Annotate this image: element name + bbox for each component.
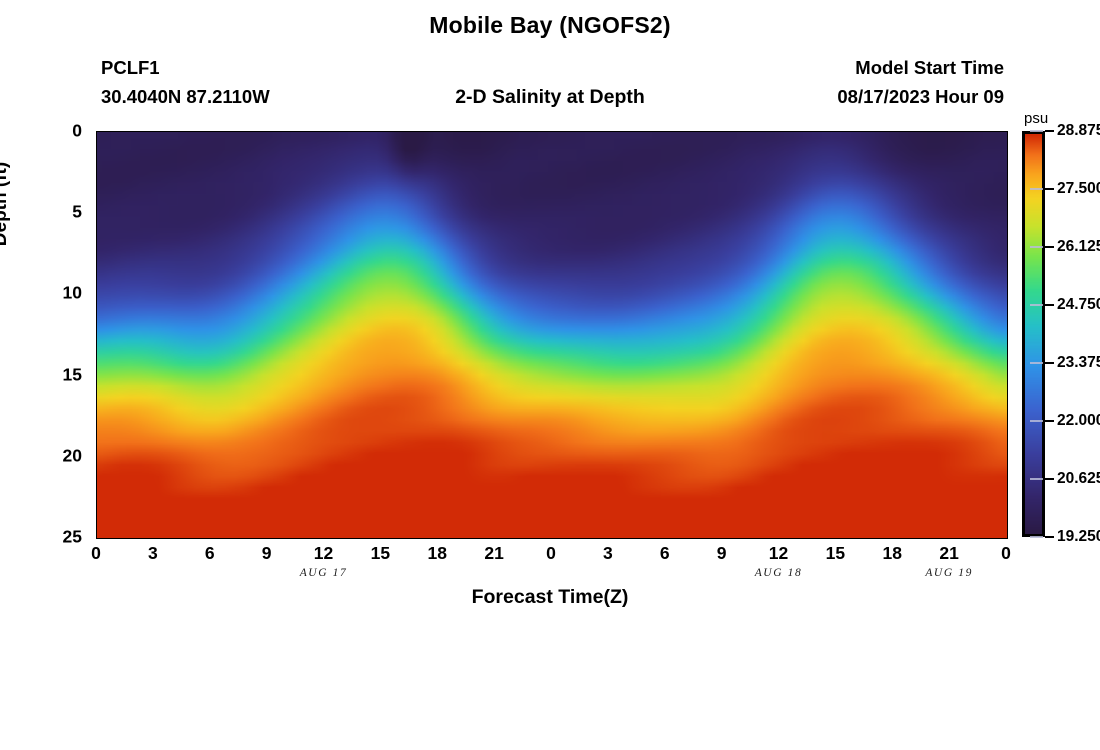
y-axis-tick: [96, 488, 97, 490]
x-axis-tick: [968, 538, 970, 539]
x-axis-tick: [115, 538, 117, 539]
y-axis-tick: [96, 391, 97, 393]
colorbar-tick: [1045, 362, 1054, 364]
x-axis-tick: [684, 131, 686, 132]
y-axis-tick: [1007, 407, 1008, 409]
x-axis-tick: [760, 538, 762, 539]
y-axis-tick: [96, 505, 97, 507]
x-axis-tick: [835, 131, 837, 132]
y-axis-tick: [96, 407, 97, 409]
x-axis-tick: [816, 538, 818, 539]
x-axis-tick: [741, 538, 743, 539]
x-axis-tick-label: 15: [826, 543, 845, 564]
x-axis-tick: [627, 538, 629, 539]
x-axis-tick: [816, 131, 818, 132]
x-axis-tick: [968, 131, 970, 132]
colorbar-tick-inner: [1030, 362, 1043, 364]
y-axis-tick-label: 15: [63, 364, 82, 385]
y-axis-tick: [96, 440, 97, 442]
x-axis-day-label: AUG 18: [755, 567, 803, 579]
x-axis-tick: [191, 131, 193, 132]
colorbar-tick-label: 20.625: [1057, 470, 1100, 488]
x-axis-tick: [380, 131, 382, 132]
x-axis-tick: [248, 538, 250, 539]
y-axis-tick: [1007, 131, 1008, 133]
x-axis-tick: [229, 131, 231, 132]
x-axis-tick: [342, 131, 344, 132]
x-axis-tick: [494, 131, 496, 132]
x-axis-day-label: AUG 19: [925, 567, 973, 579]
x-axis-tick: [873, 131, 875, 132]
x-axis-tick: [361, 131, 363, 132]
x-axis-tick: [684, 538, 686, 539]
y-axis-tick: [96, 358, 97, 360]
colorbar-tick-label: 24.750: [1057, 296, 1100, 314]
y-axis-tick: [1007, 342, 1008, 344]
colorbar-tick-label: 19.250: [1057, 528, 1100, 546]
colorbar-tick: [1045, 478, 1054, 480]
x-axis-tick: [949, 538, 951, 539]
x-axis-tick: [760, 131, 762, 132]
y-axis-tick: [1007, 505, 1008, 507]
x-axis-tick: [741, 131, 743, 132]
x-axis-tick: [665, 538, 667, 539]
y-axis-tick: [1007, 196, 1008, 198]
colorbar-tick: [1045, 304, 1054, 306]
x-axis-tick-label: 21: [939, 543, 958, 564]
x-axis-tick: [456, 538, 458, 539]
heatmap-canvas: [97, 132, 1007, 538]
x-axis-tick: [892, 131, 894, 132]
colorbar-tick-inner: [1030, 478, 1043, 480]
x-axis-tick: [589, 538, 591, 539]
colorbar-tick-inner: [1030, 246, 1043, 248]
x-axis-tick: [115, 131, 117, 132]
chart-page: Mobile Bay (NGOFS2) PCLF1 30.4040N 87.21…: [0, 0, 1100, 750]
x-axis-tick: [854, 131, 856, 132]
y-axis-tick: [1007, 293, 1008, 295]
x-axis-tick: [286, 131, 288, 132]
x-axis-tick: [418, 538, 420, 539]
colorbar-tick-label: 26.125: [1057, 238, 1100, 256]
y-axis-tick: [96, 472, 97, 474]
y-axis-tick: [1007, 228, 1008, 230]
x-axis-tick: [930, 538, 932, 539]
x-axis-tick: [646, 538, 648, 539]
y-axis-tick: [96, 456, 97, 458]
colorbar-tick-inner: [1030, 130, 1043, 132]
x-axis-tick: [1006, 131, 1008, 132]
x-axis-tick: [513, 131, 515, 132]
x-axis-tick: [399, 131, 401, 132]
x-axis-tick: [172, 538, 174, 539]
x-axis-tick: [305, 538, 307, 539]
y-axis-tick: [96, 245, 97, 247]
x-axis-tick: [267, 131, 269, 132]
y-axis-tick: [96, 293, 97, 295]
y-axis-tick: [96, 180, 97, 182]
salinity-heatmap-plot: [96, 131, 1008, 539]
y-axis-tick-label: 20: [63, 445, 82, 466]
y-axis-tick-label: 25: [63, 527, 82, 548]
x-axis-tick: [475, 131, 477, 132]
x-axis-tick: [608, 131, 610, 132]
x-axis-tick: [494, 538, 496, 539]
y-axis-tick: [96, 342, 97, 344]
x-axis-tick: [854, 538, 856, 539]
colorbar-tick-inner: [1030, 420, 1043, 422]
x-axis-tick: [380, 538, 382, 539]
x-axis-tick: [646, 131, 648, 132]
x-axis-tick-label: 21: [484, 543, 503, 564]
x-axis-tick: [797, 131, 799, 132]
y-axis-tick: [1007, 472, 1008, 474]
x-axis-tick: [987, 538, 989, 539]
colorbar-gradient: [1022, 131, 1045, 537]
x-axis-tick: [703, 131, 705, 132]
x-axis-tick: [911, 131, 913, 132]
y-axis-tick: [96, 261, 97, 263]
x-axis-tick-label: 0: [1001, 543, 1011, 564]
y-axis-tick: [1007, 277, 1008, 279]
x-axis-tick-label: 6: [205, 543, 215, 564]
x-axis-tick-label: 9: [262, 543, 272, 564]
model-start-label: Model Start Time: [855, 57, 1004, 79]
colorbar-tick: [1045, 246, 1054, 248]
x-axis-tick: [96, 538, 98, 539]
x-axis-tick: [210, 131, 212, 132]
x-axis-tick-label: 18: [883, 543, 902, 564]
x-axis-tick: [267, 538, 269, 539]
y-axis-tick: [1007, 440, 1008, 442]
x-axis-tick: [248, 131, 250, 132]
colorbar: [1022, 131, 1045, 537]
y-axis-tick: [1007, 310, 1008, 312]
y-axis-tick: [1007, 423, 1008, 425]
x-axis-tick: [153, 131, 155, 132]
x-axis-tick: [361, 538, 363, 539]
x-axis-tick: [949, 131, 951, 132]
colorbar-tick-label: 22.000: [1057, 412, 1100, 430]
x-axis-tick: [437, 538, 439, 539]
x-axis-tick: [153, 538, 155, 539]
colorbar-tick-inner: [1030, 536, 1043, 538]
y-axis-tick: [96, 521, 97, 523]
x-axis-tick: [892, 538, 894, 539]
colorbar-tick: [1045, 420, 1054, 422]
colorbar-tick-inner: [1030, 304, 1043, 306]
heatmap-surface: [97, 132, 1007, 538]
x-axis-tick-label: 15: [371, 543, 390, 564]
x-axis-tick-label: 12: [769, 543, 788, 564]
x-axis-tick: [437, 131, 439, 132]
y-axis-tick: [1007, 456, 1008, 458]
y-axis-tick: [96, 326, 97, 328]
x-axis-tick: [1006, 538, 1008, 539]
y-axis-tick: [1007, 375, 1008, 377]
y-axis-tick-label: 0: [72, 121, 82, 142]
y-axis-tick: [96, 147, 97, 149]
y-axis-tick-label: 10: [63, 283, 82, 304]
y-axis-tick: [96, 163, 97, 165]
x-axis-tick: [324, 131, 326, 132]
colorbar-tick-label: 23.375: [1057, 354, 1100, 372]
x-axis-tick-label: 18: [428, 543, 447, 564]
x-axis-tick: [797, 538, 799, 539]
x-axis-tick: [134, 538, 136, 539]
colorbar-tick: [1045, 188, 1054, 190]
x-axis-tick-label: 3: [603, 543, 613, 564]
x-axis-tick: [96, 131, 98, 132]
x-axis-tick: [229, 538, 231, 539]
y-axis-title: Depth (ft): [0, 74, 12, 334]
station-id: PCLF1: [101, 57, 160, 79]
y-axis-tick-label: 5: [72, 202, 82, 223]
y-axis-tick: [96, 277, 97, 279]
x-axis-tick: [589, 131, 591, 132]
x-axis-tick: [532, 538, 534, 539]
colorbar-tick-label: 28.875: [1057, 122, 1100, 140]
x-axis-tick: [305, 131, 307, 132]
y-axis-tick: [1007, 488, 1008, 490]
x-axis-tick-label: 9: [717, 543, 727, 564]
y-axis-tick: [96, 228, 97, 230]
y-axis-tick: [1007, 326, 1008, 328]
x-axis-tick: [551, 131, 553, 132]
x-axis-tick: [399, 538, 401, 539]
y-axis-tick: [96, 310, 97, 312]
x-axis-tick: [779, 131, 781, 132]
x-axis-tick: [911, 538, 913, 539]
x-axis-tick-label: 0: [91, 543, 101, 564]
y-axis-tick: [1007, 391, 1008, 393]
x-axis-tick: [722, 538, 724, 539]
x-axis-tick: [551, 538, 553, 539]
x-axis-day-label: AUG 17: [300, 567, 348, 579]
colorbar-unit-label: psu: [1024, 110, 1048, 127]
x-axis-tick: [835, 538, 837, 539]
colorbar-tick-inner: [1030, 188, 1043, 190]
x-axis-title: Forecast Time(Z): [0, 586, 1100, 609]
x-axis-tick: [722, 131, 724, 132]
x-axis-tick: [475, 538, 477, 539]
colorbar-canvas: [1025, 134, 1042, 534]
colorbar-tick: [1045, 536, 1054, 538]
x-axis-tick-label: 0: [546, 543, 556, 564]
x-axis-tick: [513, 538, 515, 539]
x-axis-tick: [703, 538, 705, 539]
colorbar-tick-label: 27.500: [1057, 180, 1100, 198]
y-axis-tick: [1007, 245, 1008, 247]
page-title: Mobile Bay (NGOFS2): [0, 12, 1100, 39]
colorbar-tick: [1045, 130, 1054, 132]
model-start-value: 08/17/2023 Hour 09: [837, 86, 1004, 108]
y-axis-tick: [1007, 358, 1008, 360]
y-axis-tick: [96, 423, 97, 425]
y-axis-tick: [1007, 521, 1008, 523]
x-axis-tick-label: 3: [148, 543, 158, 564]
y-axis-tick: [96, 212, 97, 214]
y-axis-tick: [96, 196, 97, 198]
x-axis-tick: [286, 538, 288, 539]
x-axis-tick: [324, 538, 326, 539]
x-axis-tick: [210, 538, 212, 539]
x-axis-tick-label: 12: [314, 543, 333, 564]
y-axis-tick: [1007, 163, 1008, 165]
y-axis-tick: [96, 375, 97, 377]
x-axis-tick: [134, 131, 136, 132]
x-axis-tick-label: 6: [660, 543, 670, 564]
x-axis-tick: [570, 538, 572, 539]
x-axis-tick: [873, 538, 875, 539]
x-axis-tick: [627, 131, 629, 132]
x-axis-tick: [570, 131, 572, 132]
x-axis-tick: [342, 538, 344, 539]
y-axis-tick: [1007, 147, 1008, 149]
x-axis-tick: [456, 131, 458, 132]
x-axis-tick: [172, 131, 174, 132]
y-axis-tick: [1007, 537, 1008, 539]
x-axis-tick: [987, 131, 989, 132]
x-axis-tick: [191, 538, 193, 539]
x-axis-tick: [665, 131, 667, 132]
x-axis-tick: [779, 538, 781, 539]
y-axis-tick: [1007, 261, 1008, 263]
x-axis-tick: [532, 131, 534, 132]
y-axis-tick: [1007, 212, 1008, 214]
y-axis-tick: [1007, 180, 1008, 182]
x-axis-tick: [418, 131, 420, 132]
x-axis-tick: [608, 538, 610, 539]
x-axis-tick: [930, 131, 932, 132]
